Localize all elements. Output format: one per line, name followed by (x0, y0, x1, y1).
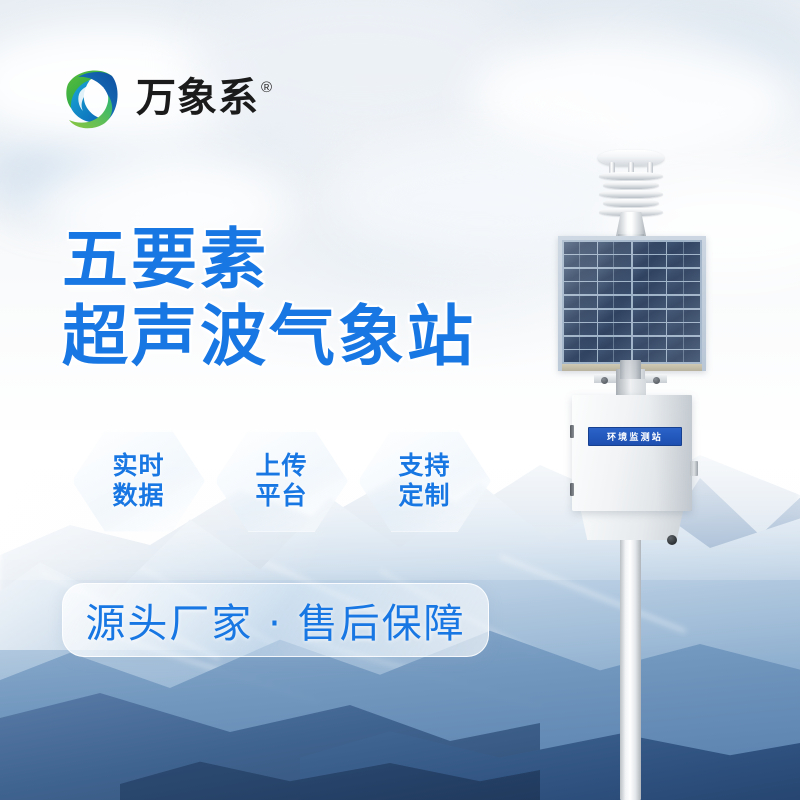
solar-panel-icon (558, 236, 706, 371)
registered-trademark-icon: ® (261, 80, 272, 95)
feature-badge-row: 实时 数据 上传 平台 支持 定制 (72, 430, 491, 532)
feature-badge-line-2: 数据 (112, 481, 164, 512)
page-title: 五要素 超声波气象站 (62, 222, 476, 375)
solar-cell-grid (562, 240, 702, 364)
feature-badge-realtime-data[interactable]: 实时 数据 (72, 430, 205, 532)
weather-station-product-image: 环境监测站 (520, 150, 780, 800)
brand-logo[interactable]: 万象系 ® (58, 62, 272, 134)
enclosure-label-text: 环境监测站 (607, 430, 663, 443)
radiation-shield-louvers (599, 172, 663, 216)
panel-mount-bolt (601, 377, 608, 384)
feature-badge-upload-platform[interactable]: 上传 平台 (215, 430, 348, 532)
enclosure-hinge (570, 483, 574, 496)
feature-badge-line-2: 平台 (255, 481, 307, 512)
globe-swirl-logo-icon (58, 62, 124, 134)
guarantee-text: 源头厂家 · 售后保障 (85, 591, 465, 649)
headline-line-2: 超声波气象站 (62, 299, 476, 376)
brand-wordmark: 万象系 ® (136, 78, 272, 118)
enclosure-hinge (570, 425, 574, 438)
feature-badge-line-1: 支持 (398, 451, 450, 482)
enclosure-shading (572, 395, 692, 511)
panel-mount-bolt (653, 377, 660, 384)
product-poster: 环境监测站 (0, 0, 800, 800)
feature-badge-label: 实时 数据 (112, 451, 164, 512)
brand-name: 万象系 (136, 78, 259, 118)
feature-badge-line-1: 实时 (112, 451, 164, 482)
enclosure-bottom-knob (667, 535, 677, 545)
enclosure-label-plate: 环境监测站 (588, 427, 682, 446)
feature-badge-label: 支持 定制 (398, 451, 450, 512)
enclosure-latch (690, 461, 698, 476)
guarantee-banner[interactable]: 源头厂家 · 售后保障 (62, 583, 489, 657)
control-enclosure: 环境监测站 (566, 395, 698, 540)
headline-line-1: 五要素 (62, 222, 476, 299)
feature-badge-customization[interactable]: 支持 定制 (358, 430, 491, 532)
feature-badge-line-2: 定制 (398, 481, 450, 512)
sensor-neck-taper (616, 212, 646, 236)
feature-badge-label: 上传 平台 (255, 451, 307, 512)
feature-badge-line-1: 上传 (255, 451, 307, 482)
